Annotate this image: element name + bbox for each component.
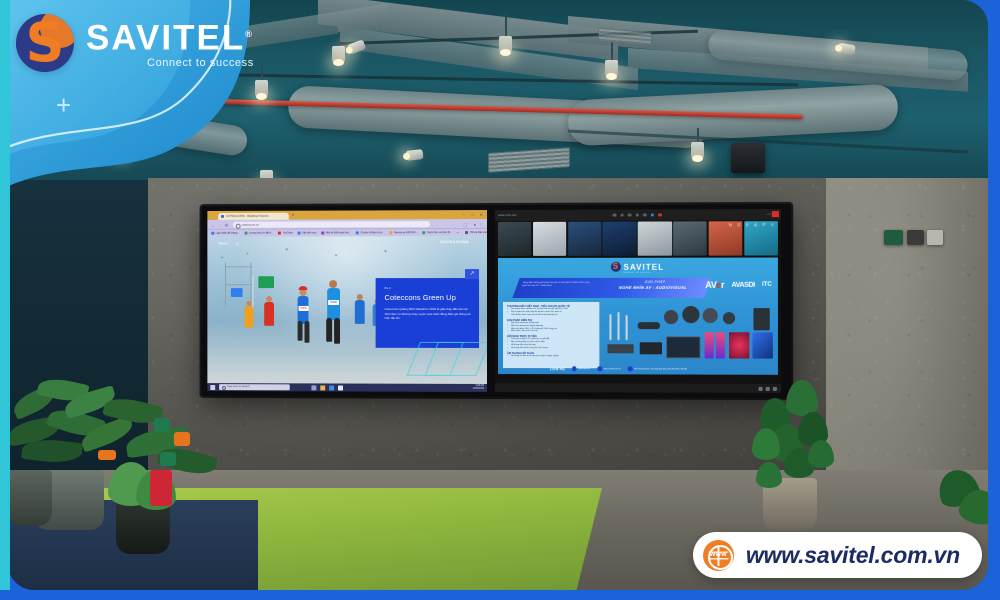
bookmark-item[interactable]: Samsung 443CKG... (389, 231, 417, 234)
bookmark-label: YouTube (283, 232, 293, 235)
colorful-chair (154, 418, 170, 432)
window-controls[interactable]: − □ (766, 212, 770, 216)
webpage-viewport: 50656 50428 Menu Q COTECCONS ↗ BLU Cotec… (207, 236, 487, 384)
conference-phone (640, 342, 662, 354)
presentation-statusbar[interactable] (495, 383, 781, 393)
pendant-light (605, 60, 618, 76)
section-item: Máy chiếu, màn chiếu các loại (507, 330, 595, 333)
participants-icon[interactable] (643, 213, 647, 217)
slide-logo: SAVITEL (610, 262, 664, 272)
brand-name-text: SAVITEL (86, 18, 245, 57)
bookmark-label: Một số Kết thoát thư... (326, 231, 351, 234)
participant-tile[interactable] (673, 221, 707, 255)
digital-signage (705, 332, 714, 358)
section-item: Hệ thống điều khiển trung tâm hội trường (507, 347, 595, 350)
meeting-url: savitel.zoom.us/j/... (498, 213, 518, 216)
windows-taskbar[interactable]: Type here to search 9:08 AM 12/05/2023 (207, 383, 487, 392)
promo-card[interactable]: ↗ BLU Coteccons Green Up Coteccons Quảng… (376, 278, 479, 348)
section-item: Chế độ bảo hành, hậu mãi và hỗ trợ kỹ th… (507, 314, 595, 317)
showroom-photo: COTECCONS - Building Futures + − □ ✕ ← →… (8, 0, 988, 590)
promo-body: Coteccons Quảng Bình Marathon 2023 là gi… (385, 307, 472, 321)
ribbon-small-text: Mang đến những giải pháp trọn gói và toà… (521, 282, 593, 288)
savitel-logo-lockup: S SAVITEL® Connect to success (16, 14, 254, 72)
brand-name: SAVITEL® (86, 17, 254, 56)
savitel-logo-text: SAVITEL (623, 262, 664, 271)
display-monitor (666, 336, 700, 358)
led-wall (752, 332, 772, 358)
clock-date: 12/05/2023 (473, 388, 484, 391)
new-tab-button[interactable]: + (292, 213, 295, 219)
pendant-light (332, 46, 345, 62)
ribbon-line1: GIẢI PHÁP (594, 280, 717, 284)
reload-button[interactable]: ⟳ (225, 222, 228, 227)
contact-bar: LIÊN HỆ 1900 888 447 www.savitel.com.vn … (498, 364, 778, 374)
track-spotlight (406, 149, 424, 161)
pendant-light (255, 80, 268, 96)
conference-toolbar[interactable] (495, 209, 781, 221)
brand-aver: AVer (705, 280, 724, 290)
savitel-wordmark: SAVITEL® Connect to success (86, 17, 254, 70)
colorful-chair (174, 432, 190, 446)
led-wall (729, 332, 749, 358)
ceiling-speaker (731, 143, 765, 173)
promo-title: Coteccons Green Up (385, 293, 472, 302)
chrome-icon[interactable] (338, 385, 343, 390)
mixer (607, 344, 633, 353)
layout-icon[interactable] (759, 386, 763, 390)
ceiling-vent (488, 147, 570, 173)
race-bib: 50428 (328, 300, 339, 305)
bookmark-label: Cách đọc và hình đi... (427, 231, 452, 234)
brand-itc: iTC (762, 282, 772, 288)
pendant-light (499, 36, 512, 52)
bookmark-item[interactable]: Lập phiếu đề thang... (211, 232, 239, 235)
ptz-camera (682, 306, 699, 323)
contact-label: LIÊN HỆ (550, 367, 565, 371)
blue-flag (231, 288, 243, 297)
light-switch[interactable] (927, 230, 943, 245)
pendant-light (691, 142, 704, 158)
all-bookmarks-label: Tất cả dấu trang (470, 231, 487, 234)
participant-tile[interactable] (638, 221, 672, 255)
brand-tagline: Connect to success (86, 57, 254, 69)
fullscreen-icon[interactable] (766, 386, 770, 390)
bookmark-label: Lương bản tin đặt h... (249, 232, 273, 235)
section-item: Hệ thống âm thanh hội nghị trực tuyến ch… (507, 355, 595, 358)
back-button[interactable]: ← (211, 222, 215, 227)
bookmark-item[interactable]: YouTube (278, 232, 292, 235)
contact-address-value: Số 6 Hoàng Diệu, Phường Kim Mã, Quận Ba … (634, 368, 687, 370)
mic-icon[interactable] (613, 213, 617, 217)
left-display-browser[interactable]: COTECCONS - Building Futures + − □ ✕ ← →… (207, 210, 487, 392)
frame-edge-bottom (0, 590, 1000, 600)
colorful-chair (160, 452, 176, 466)
ptz-camera (664, 310, 678, 324)
contact-phone: 1900 888 447 (572, 366, 590, 371)
participant-tile[interactable] (568, 222, 602, 256)
site-menu-label[interactable]: Menu (219, 241, 228, 245)
pendant-rod (338, 32, 340, 46)
windows-start-icon[interactable] (210, 385, 215, 390)
globe-meridians (708, 545, 729, 566)
ptz-camera (723, 312, 735, 324)
site-search-icon[interactable]: Q (236, 241, 239, 245)
store-icon[interactable] (329, 385, 334, 390)
pendant-rod (261, 64, 263, 80)
bookmark-item[interactable]: Một số Kết thoát thư... (321, 231, 351, 234)
camera-icon[interactable] (620, 213, 624, 217)
leave-icon[interactable] (658, 213, 662, 217)
contact-phone-value: 1900 888 447 (578, 368, 590, 370)
bookmark-label: Samsung 443CKG... (394, 231, 418, 234)
speaker (753, 308, 769, 330)
extensions-icon[interactable]: ⬚ (463, 222, 467, 227)
savitel-slide: SAVITEL Connect to success Mang đến nhữn… (498, 258, 778, 375)
share-icon[interactable] (628, 213, 632, 217)
bookmark-label: Vật kiến trúc (302, 231, 316, 234)
globe-icon (597, 367, 602, 372)
wall-sign (884, 230, 903, 245)
ptz-camera (703, 308, 718, 323)
profile-avatar[interactable]: ● (474, 222, 476, 227)
chat-icon[interactable] (635, 213, 639, 217)
close-button[interactable] (772, 211, 779, 217)
frame-edge-left (0, 0, 10, 600)
close-button[interactable]: ✕ (480, 212, 483, 217)
browser-menu-icon[interactable]: ⋮ (479, 222, 483, 227)
registered-mark: ® (245, 29, 254, 39)
globe-www-icon (703, 540, 734, 571)
taskbar-search-input[interactable]: Type here to search (219, 384, 290, 390)
dual-display-videowall[interactable]: COTECCONS - Building Futures + − □ ✕ ← →… (202, 204, 792, 398)
plus-decoration: + (56, 92, 71, 118)
pendant-rod (697, 128, 699, 142)
bookmark-label: Chuẩn bị Bản tin lư... (360, 231, 384, 234)
device-lineup (603, 302, 775, 365)
phone-icon (572, 366, 577, 371)
taskbar-clock[interactable]: 9:08 AM 12/05/2023 (473, 385, 484, 390)
frame-edge-right (988, 0, 1000, 600)
ribbon-title-group: GIẢI PHÁP NGHE NHÌN AV - AUDIOVISUAL (591, 280, 716, 290)
website-url-badge[interactable]: www.savitel.com.vn (693, 532, 982, 578)
task-view-icon[interactable] (311, 385, 316, 390)
light-switch[interactable] (907, 230, 924, 245)
record-icon[interactable] (651, 213, 655, 217)
location-icon (628, 367, 633, 372)
partner-brands: AVer AVASDI iTC (705, 280, 772, 290)
promo-arrow-icon[interactable]: ↗ (465, 269, 479, 279)
file-explorer-icon[interactable] (320, 385, 325, 390)
digital-signage (716, 332, 725, 358)
savitel-logo-mark (610, 262, 620, 272)
forward-button[interactable]: → (218, 222, 222, 227)
green-flag (258, 276, 274, 288)
ribbon-line2: NGHE NHÌN AV - AUDIOVISUAL (591, 285, 714, 290)
bookmarks-overflow-button[interactable]: » (457, 231, 460, 234)
slide-info-card: THƯƠNG HIỆU VIỆT NAM - TIÊU CHUẨN QUỐC T… (503, 302, 599, 368)
soundbar (638, 322, 660, 329)
promotional-banner: COTECCONS - Building Futures + − □ ✕ ← →… (0, 0, 1000, 600)
colorful-chair (150, 470, 172, 506)
pendant-rod (505, 14, 507, 36)
conduit-pipe (178, 73, 798, 87)
website-url-text: www.savitel.com.vn (746, 542, 960, 569)
brand-avasdi: AVASDI (731, 281, 754, 288)
participant-tile[interactable] (498, 222, 531, 256)
maximize-button[interactable]: □ (472, 212, 474, 217)
contact-web-value: www.savitel.com.vn (603, 368, 621, 370)
bookmark-item[interactable]: Lương bản tin đặt h... (244, 232, 273, 235)
participant-tile[interactable] (603, 222, 637, 256)
plant-pot (8, 470, 52, 526)
contact-web: www.savitel.com.vn (597, 367, 621, 372)
bookmark-label: Lập phiếu đề thang... (216, 232, 240, 235)
savitel-logo-sub: Connect to success (623, 272, 651, 274)
bookmark-item[interactable]: Cách đọc và hình đi... (423, 231, 452, 234)
colorful-chair (98, 450, 116, 460)
logo-s-letter: S (26, 16, 65, 70)
track-spotlight (119, 144, 138, 158)
overflow-label: » (457, 231, 458, 234)
address-bar[interactable]: coteccons.vn (233, 221, 430, 228)
right-display-presentation[interactable]: savitel.zoom.us/j/... − □ N S X & P V (495, 209, 781, 393)
settings-icon[interactable] (773, 386, 777, 390)
pendant-rod (611, 42, 613, 60)
hvac-duct (47, 97, 249, 158)
contact-address: Số 6 Hoàng Diệu, Phường Kim Mã, Quận Ba … (628, 367, 687, 372)
bookmark-item[interactable]: Vật kiến trúc (298, 231, 317, 234)
race-bib: 50656 (299, 306, 309, 311)
all-bookmarks-button[interactable]: Tất cả dấu trang (465, 231, 487, 234)
participant-tile[interactable] (533, 222, 566, 256)
coteccons-logo: COTECCONS (440, 239, 469, 244)
promo-eyebrow: BLU (385, 286, 472, 290)
participants-label: N S X & P V (729, 222, 776, 227)
bookmark-item[interactable]: Chuẩn bị Bản tin lư... (356, 231, 385, 234)
browser-tab[interactable]: COTECCONS - Building Futures (218, 212, 289, 219)
savitel-logo-mark-icon: S (16, 14, 74, 72)
minimize-button[interactable]: − (463, 212, 465, 217)
